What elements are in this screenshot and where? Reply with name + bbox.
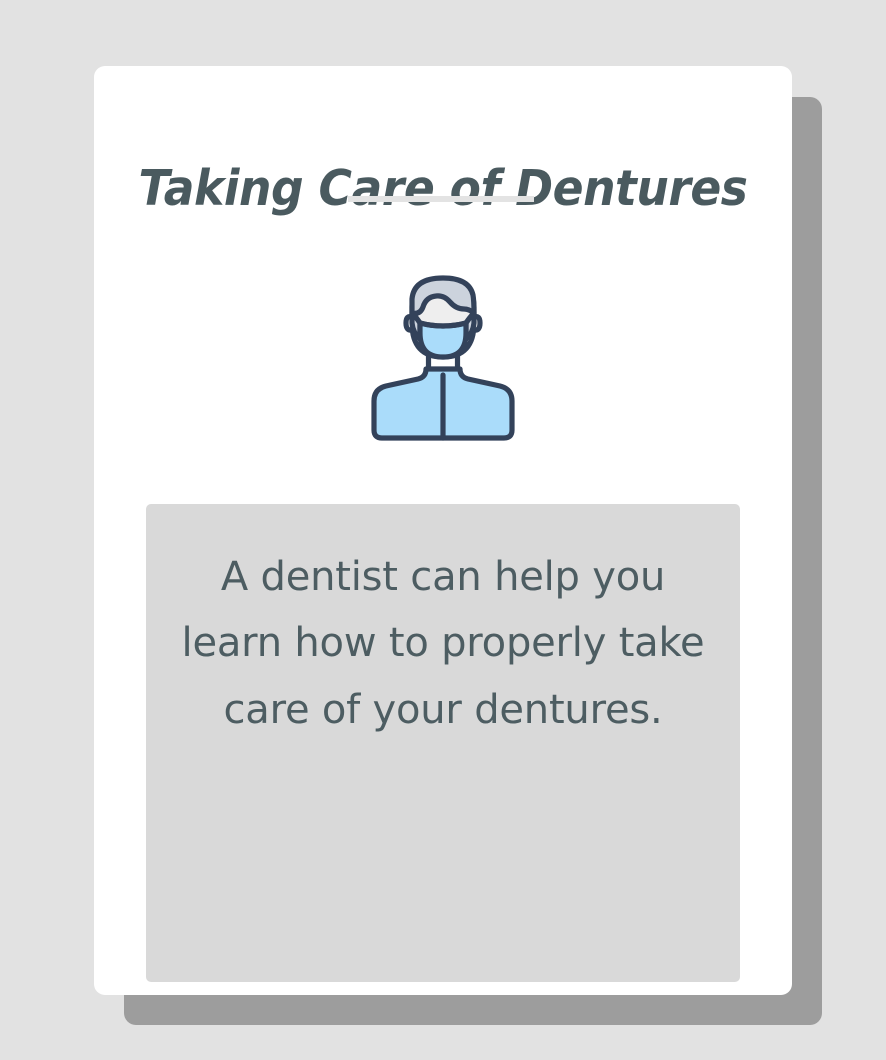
content-panel: A dentist can help you learn how to prop… bbox=[146, 504, 740, 982]
body-text: A dentist can help you learn how to prop… bbox=[172, 544, 714, 743]
page-title: Taking Care of Dentures bbox=[118, 164, 767, 213]
slide-stage: Taking Care of Dentures bbox=[0, 0, 886, 1060]
dentist-with-mask-icon bbox=[368, 265, 518, 443]
title-divider bbox=[348, 196, 534, 202]
illustration-container bbox=[94, 261, 792, 446]
content-card: Taking Care of Dentures bbox=[94, 66, 792, 995]
